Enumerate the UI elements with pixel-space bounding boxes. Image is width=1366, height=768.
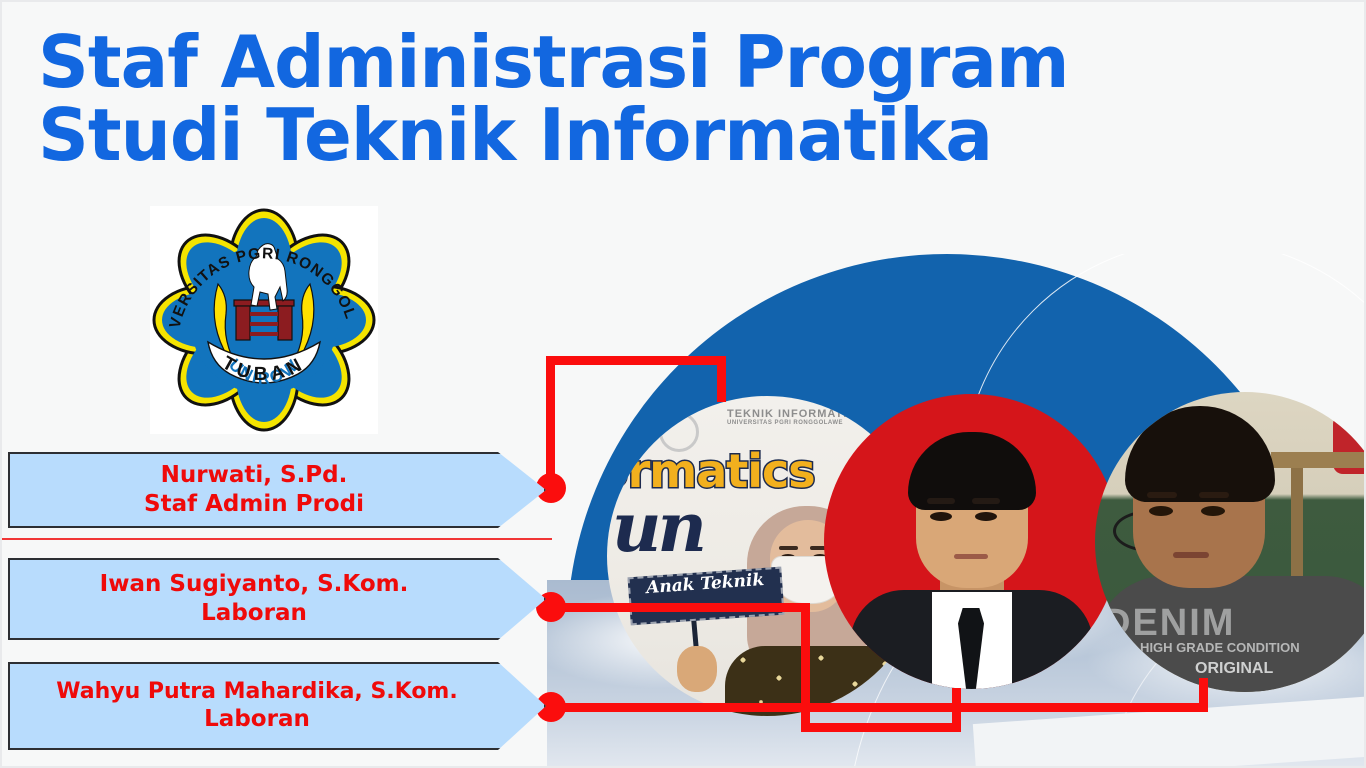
staff-name: Nurwati, S.Pd.: [161, 461, 348, 490]
title-line-2: Studi Teknik Informatika: [38, 99, 1302, 172]
connector-1-horizontal: [546, 356, 726, 365]
connector-1-vertical-left: [546, 360, 555, 478]
staff-name: Iwan Sugiyanto, S.Kom.: [100, 570, 409, 599]
connector-1-vertical-right: [717, 356, 726, 402]
section-divider: [2, 538, 552, 540]
tee-line-2: ORIGINAL: [1195, 660, 1273, 678]
eyebrow-left: [927, 498, 955, 504]
photo-wahyu: DENIM FOR HIGH GRADE CONDITION ORIGINAL: [1095, 392, 1366, 692]
eyebrow-left: [1147, 492, 1177, 498]
eye-right: [975, 512, 997, 521]
photo-iwan: [824, 394, 1119, 689]
eye-left: [930, 512, 952, 521]
eyebrow-right: [1199, 492, 1229, 498]
tee-brand-text: DENIM: [1103, 602, 1235, 645]
staff-plate-wahyu[interactable]: Wahyu Putra Mahardika, S.Kom. Laboran: [8, 662, 546, 750]
page-title: Staf Administrasi Program Studi Teknik I…: [38, 26, 1302, 173]
staff-plate-nurwati[interactable]: Nurwati, S.Pd. Staf Admin Prodi: [8, 452, 546, 528]
connector-3-vertical: [1199, 678, 1208, 708]
staff-plate-iwan[interactable]: Iwan Sugiyanto, S.Kom. Laboran: [8, 558, 546, 640]
staff-role: Staf Admin Prodi: [144, 490, 364, 519]
staff-role: Laboran: [204, 705, 310, 734]
banner-script-word: un: [612, 488, 703, 568]
title-line-1: Staf Administrasi Program: [38, 20, 1069, 104]
unirow-logo-svg: UNIROW UNIVERSITAS PGRI RONGGOLAWE TUBAN: [150, 206, 378, 434]
mouth: [1173, 552, 1209, 558]
eyebrow-left: [779, 546, 798, 550]
connector-3-horizontal: [548, 703, 1208, 712]
staff-role: Laboran: [201, 599, 307, 628]
slide-root: Staf Administrasi Program Studi Teknik I…: [0, 0, 1366, 768]
eye-right: [1201, 506, 1225, 516]
mouth: [954, 554, 988, 559]
eyebrow-right: [972, 498, 1000, 504]
connector-2-horizontal-1: [548, 603, 810, 612]
staff-name: Wahyu Putra Mahardika, S.Kom.: [56, 678, 457, 705]
eye-left: [1149, 506, 1173, 516]
unirow-logo: UNIROW UNIVERSITAS PGRI RONGGOLAWE TUBAN: [150, 206, 378, 434]
logo-petals: [154, 210, 374, 430]
connector-2-horizontal-2: [801, 723, 961, 732]
tee-line-1: FOR HIGH GRADE CONDITION: [1109, 640, 1300, 655]
wooden-table: [1271, 452, 1366, 468]
hand: [677, 646, 717, 692]
